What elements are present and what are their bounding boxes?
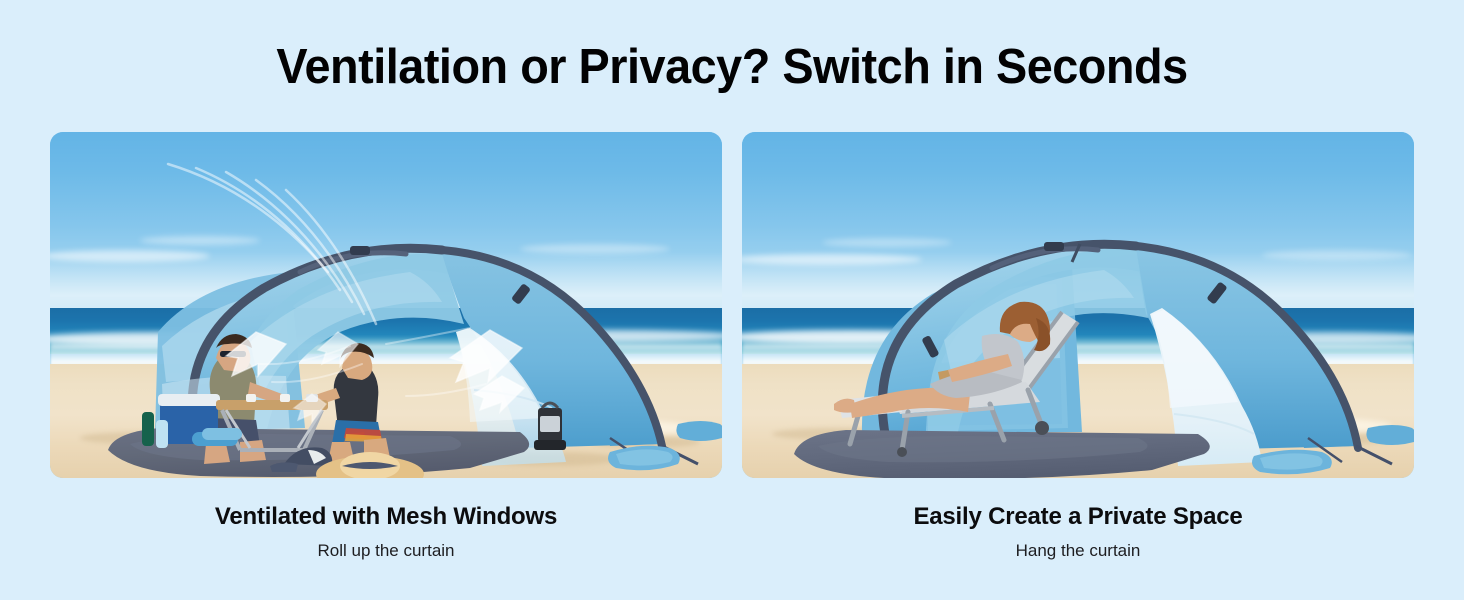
airflow-arrows-overlay xyxy=(50,132,722,478)
caption-subtitle: Roll up the curtain xyxy=(50,540,722,562)
caption-title: Easily Create a Private Space xyxy=(742,502,1414,532)
sandbags-group xyxy=(742,132,1414,478)
ventilation-caption: Ventilated with Mesh Windows Roll up the… xyxy=(50,478,722,562)
sandbag xyxy=(1366,425,1414,445)
privacy-caption: Easily Create a Private Space Hang the c… xyxy=(742,478,1414,562)
promo-page: Ventilation or Privacy? Switch in Second… xyxy=(0,0,1464,600)
ventilation-photo xyxy=(50,132,722,478)
page-title: Ventilation or Privacy? Switch in Second… xyxy=(33,38,1431,96)
caption-title: Ventilated with Mesh Windows xyxy=(50,502,722,532)
privacy-photo xyxy=(742,132,1414,478)
caption-subtitle: Hang the curtain xyxy=(742,540,1414,562)
feature-panel-ventilation: Ventilated with Mesh Windows Roll up the… xyxy=(50,132,722,562)
feature-panels: Ventilated with Mesh Windows Roll up the… xyxy=(50,132,1414,562)
feature-panel-privacy: Easily Create a Private Space Hang the c… xyxy=(742,132,1414,562)
